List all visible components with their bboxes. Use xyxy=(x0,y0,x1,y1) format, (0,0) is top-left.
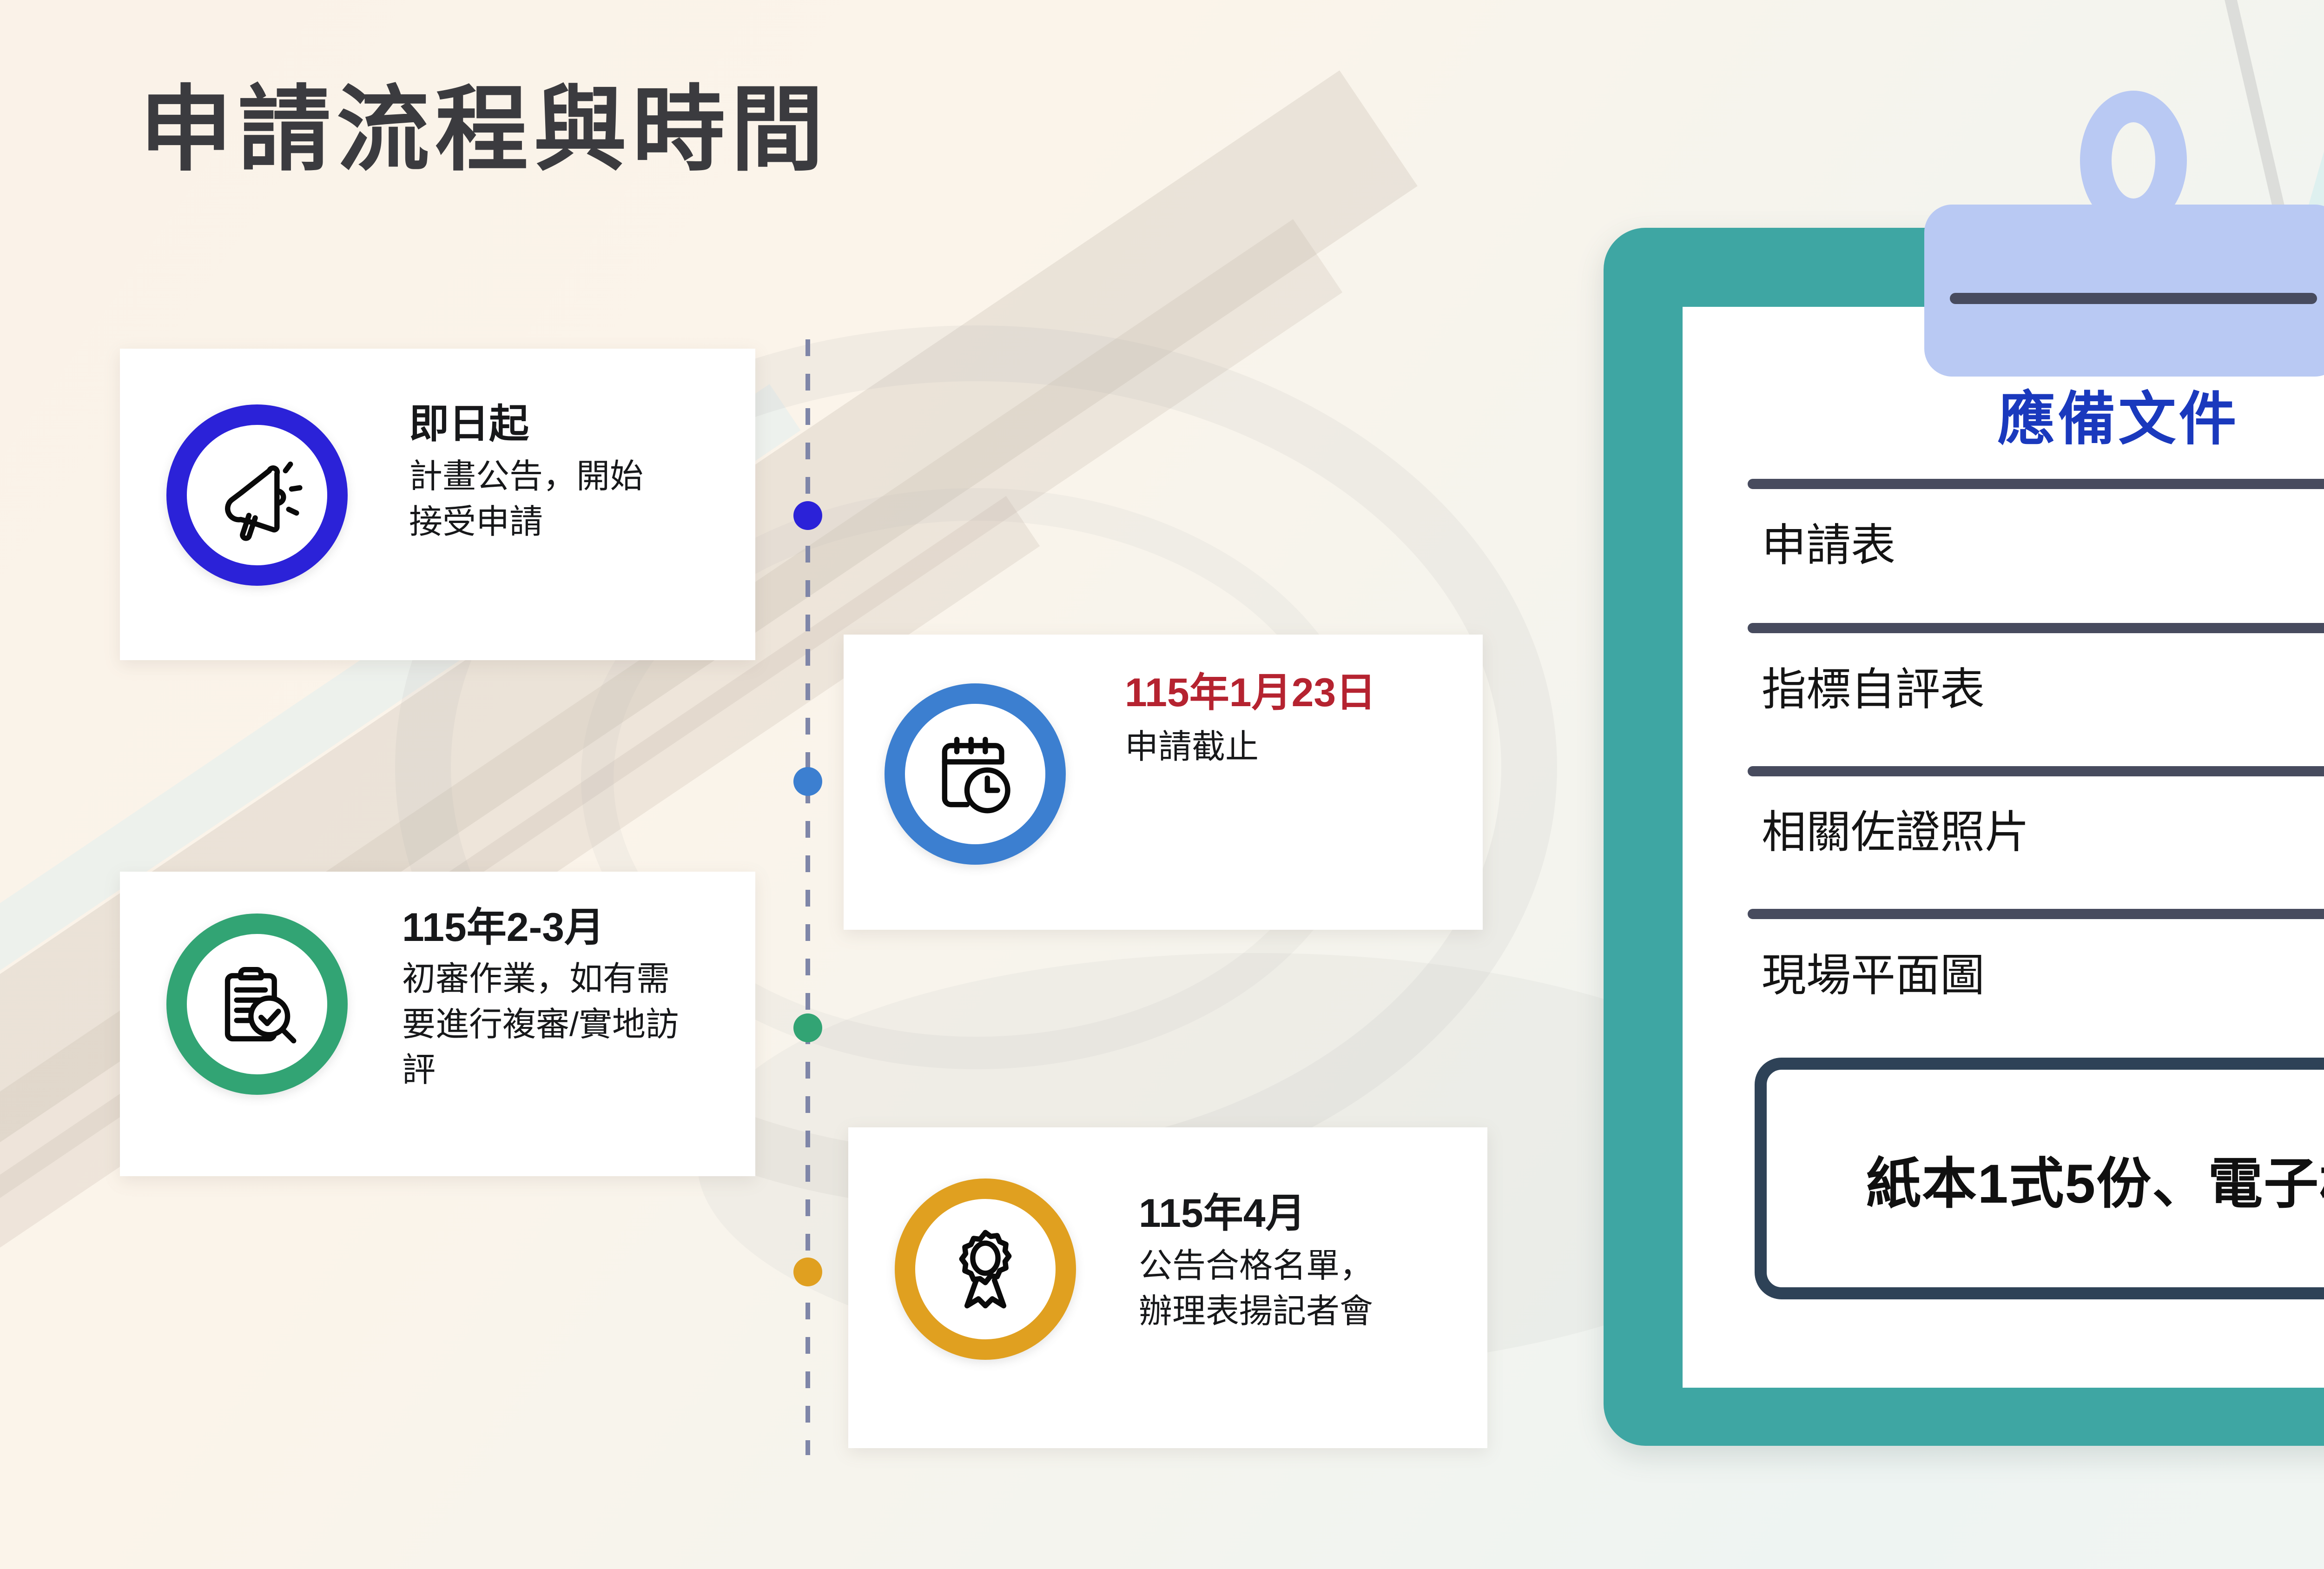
timeline-card-4-body-line-2: 辦理表揚記者會 xyxy=(1139,1289,1373,1335)
document-divider-3 xyxy=(1748,766,2324,776)
clipboard-check-search-icon xyxy=(166,914,348,1095)
timeline-card-3-body-line-1: 初審作業，如有需 xyxy=(402,957,679,1002)
timeline-card-1-text: 即日起 計畫公告，開始 接受申請 xyxy=(409,401,643,545)
timeline-card-4-heading: 115年4月 xyxy=(1139,1190,1373,1237)
timeline-card-2-heading: 115年1月23日 xyxy=(1125,669,1376,716)
document-item-2: 指標自評表 xyxy=(1762,653,1985,718)
submission-note-text: 紙本1式5份、電子檔 xyxy=(1866,1139,2324,1218)
timeline-card-3-body-line-2: 要進行複審/實地訪 xyxy=(402,1002,679,1048)
timeline-card-4-body-line-1: 公告合格名單， xyxy=(1139,1244,1373,1289)
documents-panel-title: 應備文件 xyxy=(1683,372,2324,456)
slide-canvas: 申請流程與時間 即日起 計畫公告，開始 接受申請 115年1月23日 申請截止 xyxy=(0,0,2324,1569)
page-title: 申請流程與時間 xyxy=(139,84,829,177)
document-item-1: 申請表 xyxy=(1762,509,1895,574)
clipboard-clip-bar xyxy=(1950,293,2317,304)
timeline-card-3-heading: 115年2-3月 xyxy=(402,904,679,951)
timeline-card-3-body-line-3: 評 xyxy=(402,1048,679,1093)
timeline-dot-4 xyxy=(793,1258,822,1286)
timeline-card-4-text: 115年4月 公告合格名單， 辦理表揚記者會 xyxy=(1139,1190,1373,1335)
timeline-card-1-body-line-1: 計畫公告，開始 xyxy=(409,454,643,500)
timeline-card-2-body-line-1: 申請截止 xyxy=(1125,725,1376,770)
timeline-dot-1 xyxy=(793,501,822,530)
document-item-3: 相關佐證照片 xyxy=(1762,796,2029,861)
timeline-dot-2 xyxy=(793,767,822,796)
document-divider-1 xyxy=(1748,479,2324,489)
submission-note-box: 紙本1式5份、電子檔 xyxy=(1755,1058,2324,1299)
document-divider-4 xyxy=(1748,909,2324,919)
megaphone-icon xyxy=(166,404,348,586)
timeline-card-2-text: 115年1月23日 申請截止 xyxy=(1125,669,1376,770)
timeline-dot-3 xyxy=(793,1013,822,1042)
document-item-4: 現場平面圖 xyxy=(1762,939,1985,1004)
clipboard-clip xyxy=(1924,205,2324,377)
document-divider-2 xyxy=(1748,623,2324,633)
timeline-card-1-heading: 即日起 xyxy=(409,401,643,448)
award-ribbon-icon xyxy=(895,1178,1076,1360)
calendar-clock-icon xyxy=(885,683,1066,865)
timeline-card-3-text: 115年2-3月 初審作業，如有需 要進行複審/實地訪 評 xyxy=(402,904,679,1093)
timeline-card-1-body-line-2: 接受申請 xyxy=(409,500,643,545)
